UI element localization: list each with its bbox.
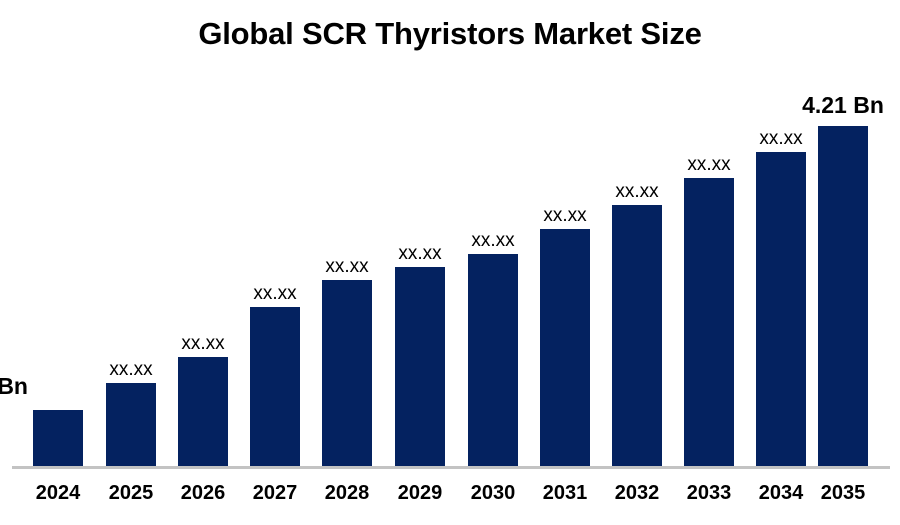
bar-group-2029: xx.xx2029: [395, 0, 445, 525]
bar-value-label-2035: 4.21 Bn: [783, 92, 900, 119]
bar-2033[interactable]: [684, 178, 734, 466]
bar-2032[interactable]: [612, 205, 662, 466]
bar-value-label-2024: 1.46 Bn: [0, 373, 28, 400]
bar-2035[interactable]: [818, 126, 868, 466]
bar-2030[interactable]: [468, 254, 518, 466]
bar-2031[interactable]: [540, 229, 590, 466]
x-axis-tick-2035: 2035: [798, 482, 888, 505]
bar-value-label-2026: xx.xx: [143, 333, 263, 355]
bar-group-2033: xx.xx2033: [684, 0, 734, 525]
bar-group-2032: xx.xx2032: [612, 0, 662, 525]
bar-2027[interactable]: [250, 307, 300, 466]
bar-group-2034: xx.xx2034: [756, 0, 806, 525]
bar-group-2024: 1.46 Bn2024: [33, 0, 83, 525]
bar-2034[interactable]: [756, 152, 806, 466]
bar-2029[interactable]: [395, 267, 445, 466]
bar-value-label-2031: xx.xx: [505, 205, 625, 227]
bar-group-2030: xx.xx2030: [468, 0, 518, 525]
bar-2025[interactable]: [106, 383, 156, 466]
bar-value-label-2033: xx.xx: [649, 154, 769, 176]
bar-group-2026: xx.xx2026: [178, 0, 228, 525]
plot-area: 1.46 Bn2024xx.xx2025xx.xx2026xx.xx2027xx…: [0, 0, 900, 525]
bar-2028[interactable]: [322, 280, 372, 466]
bar-2026[interactable]: [178, 357, 228, 466]
chart-container: Global SCR Thyristors Market Size 1.46 B…: [0, 0, 900, 525]
bar-value-label-2025: xx.xx: [71, 359, 191, 381]
bar-group-2035: 4.21 Bn2035: [818, 0, 868, 525]
bar-value-label-2027: xx.xx: [215, 283, 335, 305]
bar-value-label-2030: xx.xx: [433, 230, 553, 252]
bar-group-2025: xx.xx2025: [106, 0, 156, 525]
bar-value-label-2032: xx.xx: [577, 181, 697, 203]
bar-group-2031: xx.xx2031: [540, 0, 590, 525]
bar-2024[interactable]: [33, 410, 83, 466]
